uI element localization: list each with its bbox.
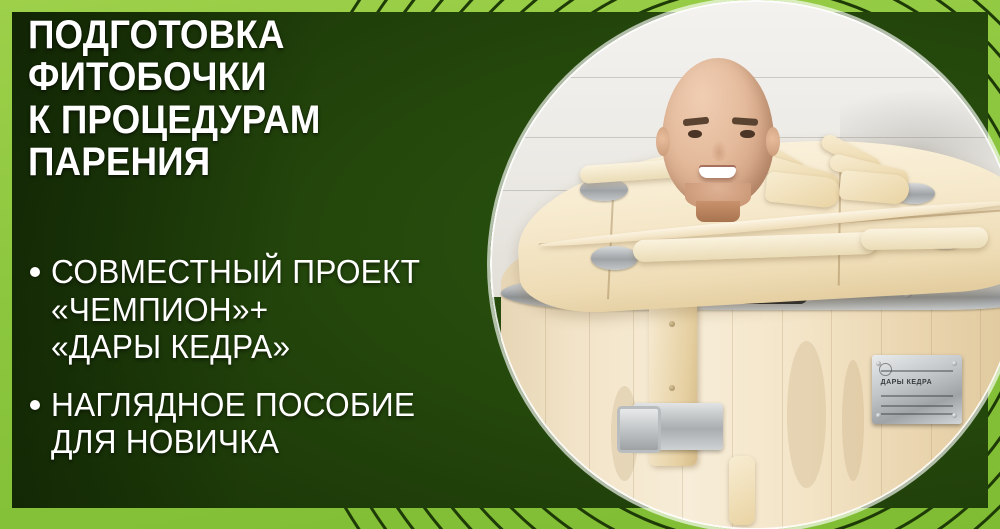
barrel-latch [633, 403, 723, 451]
person-head [662, 58, 773, 206]
wooden-peg [729, 456, 756, 525]
feature-list: СОВМЕСТНЫЙ ПРОЕКТ «ЧЕМПИОН»+ «ДАРЫ КЕДРА… [30, 253, 590, 481]
promo-banner: ДАРЫ КЕДРА [0, 0, 1000, 529]
list-item-label: НАГЛЯДНОЕ ПОСОБИЕ ДЛЯ НОВИЧКА [51, 386, 415, 461]
nameplate: ДАРЫ КЕДРА [872, 355, 962, 424]
headline-block: ПОДГОТОВКА ФИТОБОЧКИ К ПРОЦЕДУРАМ ПАРЕНИ… [28, 14, 573, 184]
nameplate-brand: ДАРЫ КЕДРА [881, 379, 933, 386]
lid-hinge [591, 246, 639, 269]
page-title: ПОДГОТОВКА ФИТОБОЧКИ К ПРОЦЕДУРАМ ПАРЕНИ… [28, 14, 529, 184]
bullet-dot-icon [30, 267, 40, 277]
wooden-fork [839, 170, 910, 205]
list-item: СОВМЕСТНЫЙ ПРОЕКТ «ЧЕМПИОН»+ «ДАРЫ КЕДРА… [30, 253, 590, 366]
list-item-label: СОВМЕСТНЫЙ ПРОЕКТ «ЧЕМПИОН»+ «ДАРЫ КЕДРА… [51, 253, 420, 366]
list-item: НАГЛЯДНОЕ ПОСОБИЕ ДЛЯ НОВИЧКА [30, 386, 590, 461]
collar-board [861, 227, 989, 250]
bullet-dot-icon [30, 400, 40, 410]
